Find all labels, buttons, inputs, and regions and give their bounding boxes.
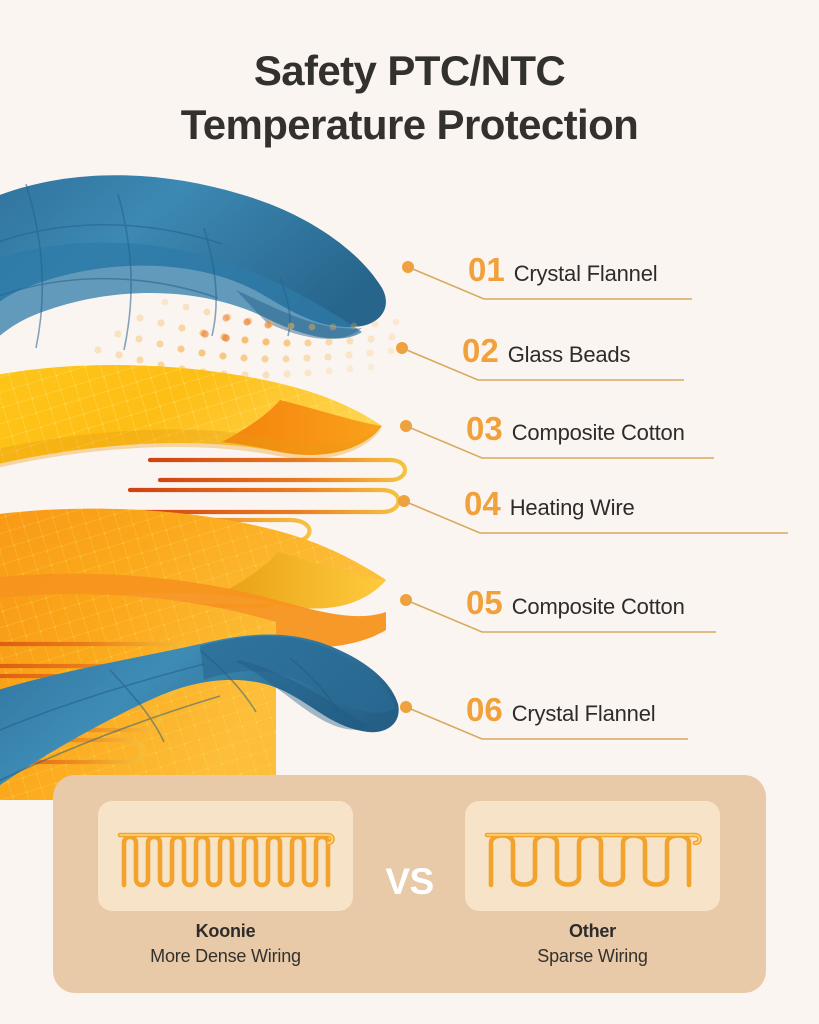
- brand-name-koonie: Koonie: [98, 921, 353, 942]
- callout-item-02[interactable]: 02 Glass Beads: [396, 336, 686, 396]
- callout-item-01[interactable]: 01 Crystal Flannel: [402, 255, 692, 315]
- callout-number: 06: [466, 691, 503, 729]
- callout-item-06[interactable]: 06 Crystal Flannel: [400, 695, 690, 755]
- callout-text: 03 Composite Cotton: [466, 410, 685, 448]
- brand-name-other: Other: [465, 921, 720, 942]
- callout-label: Heating Wire: [510, 495, 635, 521]
- callout-item-03[interactable]: 03 Composite Cotton: [400, 414, 716, 474]
- brand-description-other: Sparse Wiring: [465, 946, 720, 967]
- callout-text: 02 Glass Beads: [462, 332, 630, 370]
- versus-label: VS: [53, 861, 766, 903]
- blanket-layers-illustration: [0, 160, 420, 800]
- callout-label: Glass Beads: [508, 342, 631, 368]
- comparison-panel: VS Koonie More Dense Wiring Other Sparse…: [53, 775, 766, 993]
- callout-text: 05 Composite Cotton: [466, 584, 685, 622]
- callout-text: 01 Crystal Flannel: [468, 251, 657, 289]
- page-title: Safety PTC/NTC Temperature Protection: [0, 44, 819, 152]
- callout-number: 04: [464, 485, 501, 523]
- layer-composite-cotton-upper: [0, 365, 382, 480]
- callout-text: 06 Crystal Flannel: [466, 691, 655, 729]
- callout-text: 04 Heating Wire: [464, 485, 634, 523]
- callout-label: Composite Cotton: [512, 420, 685, 446]
- callout-label: Crystal Flannel: [512, 701, 656, 727]
- callout-item-05[interactable]: 05 Composite Cotton: [400, 588, 718, 648]
- comparison-cards: VS: [53, 801, 766, 911]
- callout-label: Composite Cotton: [512, 594, 685, 620]
- callout-item-04[interactable]: 04 Heating Wire: [398, 489, 788, 549]
- callout-label: Crystal Flannel: [514, 261, 658, 287]
- brand-description-koonie: More Dense Wiring: [98, 946, 353, 967]
- callout-number: 02: [462, 332, 499, 370]
- infographic-canvas: Safety PTC/NTC Temperature Protection: [0, 0, 819, 1024]
- caption-koonie: Koonie More Dense Wiring: [98, 921, 353, 967]
- callout-number: 05: [466, 584, 503, 622]
- layer-crystal-flannel-top: [0, 175, 386, 396]
- title-line-2: Temperature Protection: [0, 98, 819, 152]
- title-line-1: Safety PTC/NTC: [0, 44, 819, 98]
- callout-number: 03: [466, 410, 503, 448]
- caption-other: Other Sparse Wiring: [465, 921, 720, 967]
- callout-number: 01: [468, 251, 505, 289]
